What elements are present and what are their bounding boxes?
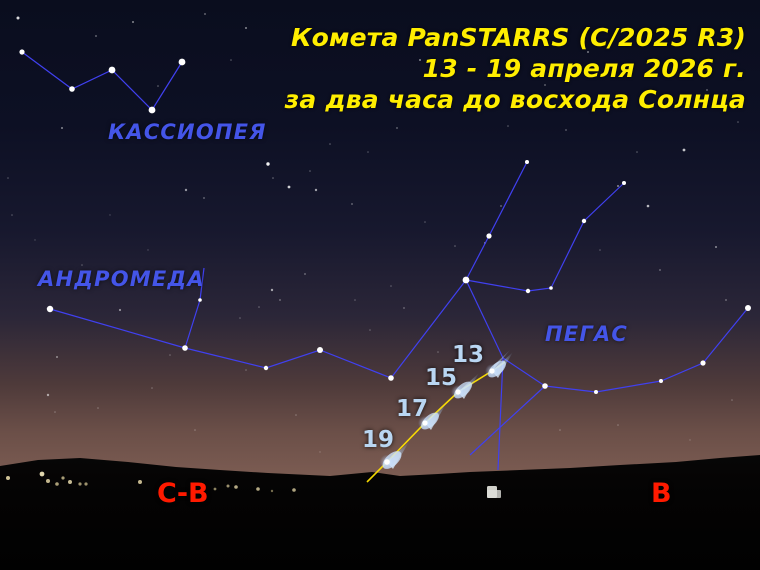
direction-label-east: В bbox=[651, 478, 672, 509]
constellation-label-cassiopeia: КАССИОПЕЯ bbox=[108, 120, 267, 144]
comet-marker-13 bbox=[485, 349, 513, 380]
direction-label-northeast: С-В bbox=[157, 478, 209, 509]
title-line-1: Комета PanSTARRS (C/2025 R3) bbox=[285, 22, 746, 53]
title-line-2: 13 - 19 апреля 2026 г. bbox=[285, 53, 746, 84]
comet-date-label-17: 17 bbox=[396, 396, 428, 422]
constellation-label-andromeda: АНДРОМЕДА bbox=[38, 267, 205, 291]
star-chart-scene: Комета PanSTARRS (C/2025 R3) 13 - 19 апр… bbox=[0, 0, 760, 570]
comet-date-label-19: 19 bbox=[362, 427, 394, 453]
comet-date-label-15: 15 bbox=[425, 365, 457, 391]
constellation-label-pegasus: ПЕГАС bbox=[545, 322, 628, 346]
chart-title: Комета PanSTARRS (C/2025 R3) 13 - 19 апр… bbox=[285, 22, 746, 115]
title-line-3: за два часа до восхода Солнца bbox=[285, 84, 746, 115]
